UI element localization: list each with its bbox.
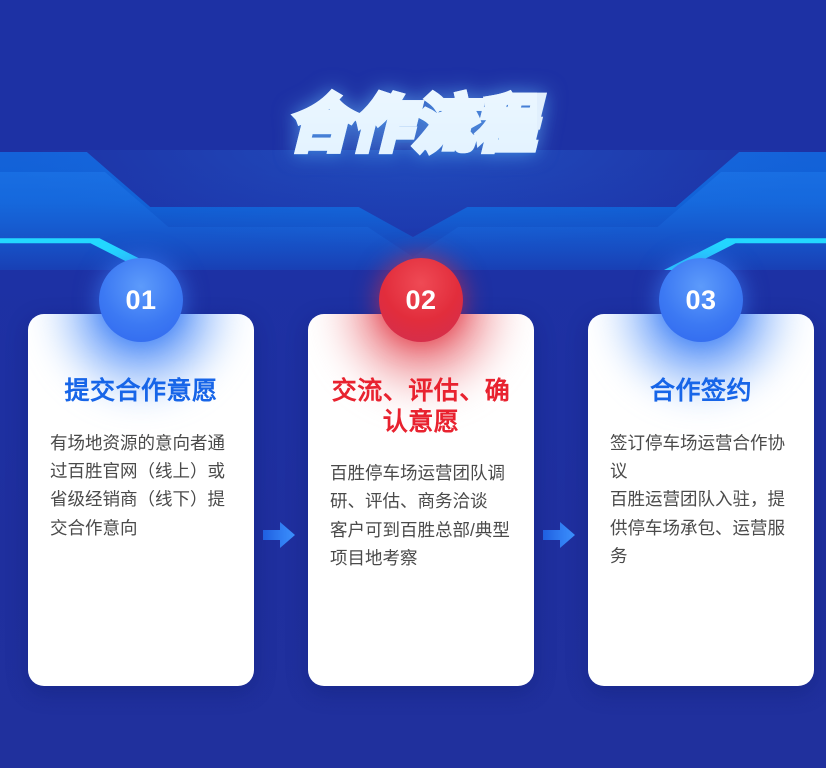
step-number-badge-1: 01 — [99, 258, 183, 342]
arrow-right-icon — [262, 520, 296, 550]
step-paragraph: 有场地资源的意向者通过百胜官网（线上）或省级经销商（线下）提交合作意向 — [50, 429, 232, 542]
arrow-right-icon — [542, 520, 576, 550]
step-number-badge-2: 02 — [379, 258, 463, 342]
step-title-1: 提交合作意愿 — [44, 376, 238, 407]
step-card-inner-2: 交流、评估、确认意愿 百胜停车场运营团队调研、评估、商务洽谈 客户可到百胜总部/… — [308, 314, 534, 572]
process-steps: 提交合作意愿 有场地资源的意向者通过百胜官网（线上）或省级经销商（线下）提交合作… — [0, 258, 826, 698]
step-card-2: 交流、评估、确认意愿 百胜停车场运营团队调研、评估、商务洽谈 客户可到百胜总部/… — [308, 314, 534, 686]
process-step-3[interactable]: 合作签约 签订停车场运营合作协议 百胜运营团队入驻，提供停车场承包、运营服务 0… — [588, 314, 814, 686]
step-paragraph: 客户可到百胜总部/典型项目地考察 — [330, 516, 512, 573]
step-body-1: 有场地资源的意向者通过百胜官网（线上）或省级经销商（线下）提交合作意向 — [44, 429, 238, 542]
step-body-3: 签订停车场运营合作协议 百胜运营团队入驻，提供停车场承包、运营服务 — [604, 429, 798, 571]
step-title-3: 合作签约 — [604, 376, 798, 407]
step-number-badge-3: 03 — [659, 258, 743, 342]
process-step-2[interactable]: 交流、评估、确认意愿 百胜停车场运营团队调研、评估、商务洽谈 客户可到百胜总部/… — [308, 314, 534, 686]
step-paragraph: 百胜运营团队入驻，提供停车场承包、运营服务 — [610, 485, 792, 570]
step-card-3: 合作签约 签订停车场运营合作协议 百胜运营团队入驻，提供停车场承包、运营服务 — [588, 314, 814, 686]
step-body-2: 百胜停车场运营团队调研、评估、商务洽谈 客户可到百胜总部/典型项目地考察 — [324, 459, 518, 572]
step-paragraph: 签订停车场运营合作协议 — [610, 429, 792, 486]
step-card-inner-1: 提交合作意愿 有场地资源的意向者通过百胜官网（线上）或省级经销商（线下）提交合作… — [28, 314, 254, 542]
step-paragraph: 百胜停车场运营团队调研、评估、商务洽谈 — [330, 459, 512, 516]
process-step-1[interactable]: 提交合作意愿 有场地资源的意向者通过百胜官网（线上）或省级经销商（线下）提交合作… — [28, 314, 254, 686]
infographic-stage: 合作流程 提交合作意愿 有场地资源的意向者通过百胜官网（线上）或省级经销商（线下… — [0, 0, 826, 768]
step-title-2: 交流、评估、确认意愿 — [324, 376, 518, 437]
step-card-inner-3: 合作签约 签订停车场运营合作协议 百胜运营团队入驻，提供停车场承包、运营服务 — [588, 314, 814, 570]
step-card-1: 提交合作意愿 有场地资源的意向者通过百胜官网（线上）或省级经销商（线下）提交合作… — [28, 314, 254, 686]
page-title: 合作流程 — [289, 76, 537, 163]
page-title-wrap: 合作流程 — [0, 76, 826, 162]
